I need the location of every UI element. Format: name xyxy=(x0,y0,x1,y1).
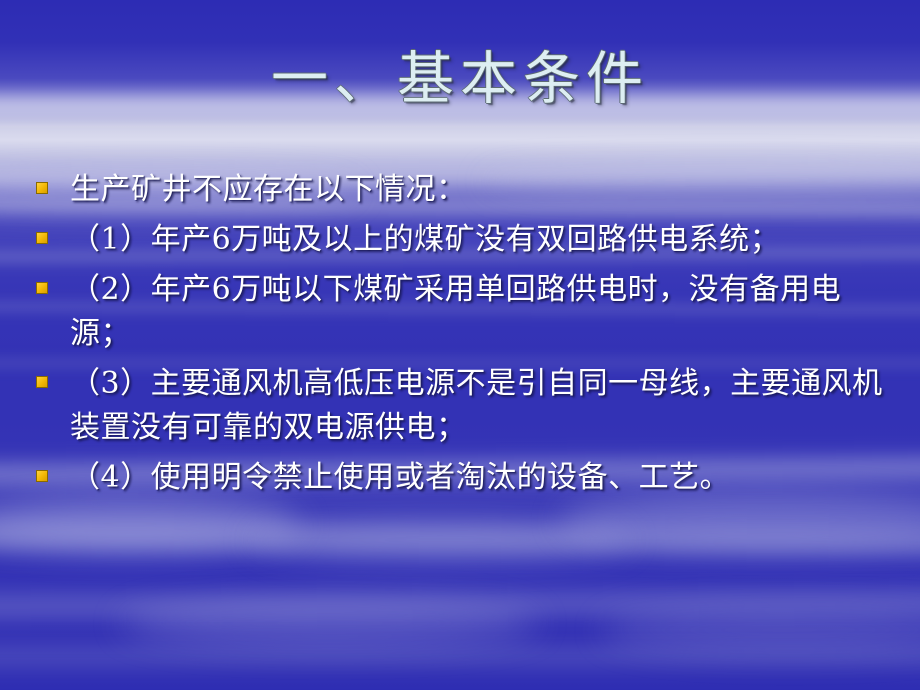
list-item-text: 生产矿井不应存在以下情况： xyxy=(70,168,900,212)
list-item: 生产矿井不应存在以下情况： xyxy=(36,168,900,212)
square-bullet-icon xyxy=(36,470,48,482)
slide-title: 一、基本条件 xyxy=(0,48,920,111)
list-item: （3）主要通风机高低压电源不是引自同一母线，主要通风机装置没有可靠的双电源供电； xyxy=(36,362,900,450)
list-item: （4）使用明令禁止使用或者淘汰的设备、工艺。 xyxy=(36,456,900,500)
square-bullet-icon xyxy=(36,282,48,294)
list-item-text: （3）主要通风机高低压电源不是引自同一母线，主要通风机装置没有可靠的双电源供电； xyxy=(70,362,900,450)
list-item-text: （1）年产6万吨及以上的煤矿没有双回路供电系统； xyxy=(70,218,900,262)
list-item: （2）年产6万吨以下煤矿采用单回路供电时，没有备用电源； xyxy=(36,268,900,356)
slide-body-list: 生产矿井不应存在以下情况： （1）年产6万吨及以上的煤矿没有双回路供电系统； （… xyxy=(36,168,900,506)
square-bullet-icon xyxy=(36,376,48,388)
presentation-slide: 一、基本条件 生产矿井不应存在以下情况： （1）年产6万吨及以上的煤矿没有双回路… xyxy=(0,0,920,690)
square-bullet-icon xyxy=(36,182,48,194)
list-item-text: （2）年产6万吨以下煤矿采用单回路供电时，没有备用电源； xyxy=(70,268,900,356)
square-bullet-icon xyxy=(36,232,48,244)
list-item: （1）年产6万吨及以上的煤矿没有双回路供电系统； xyxy=(36,218,900,262)
list-item-text: （4）使用明令禁止使用或者淘汰的设备、工艺。 xyxy=(70,456,900,500)
